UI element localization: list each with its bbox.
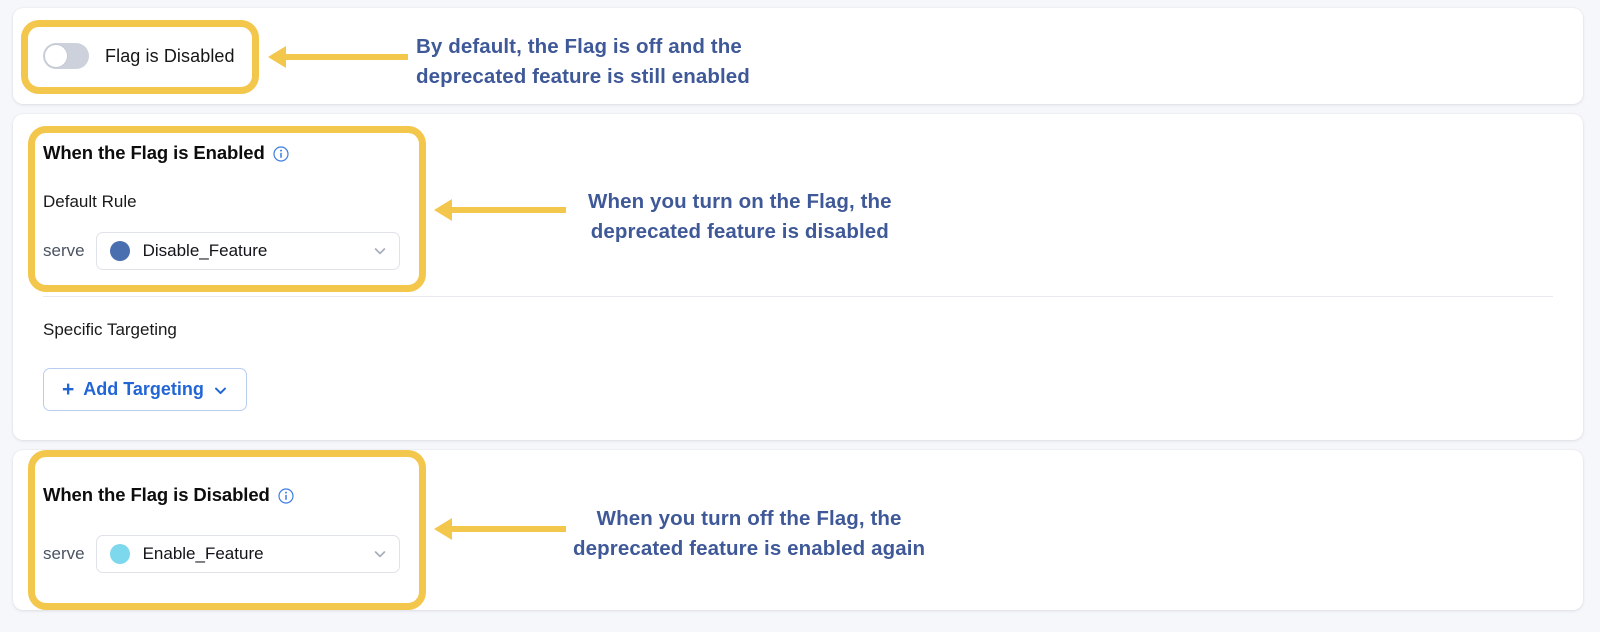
chevron-down-icon[interactable]	[213, 382, 228, 397]
add-targeting-label: Add Targeting	[83, 379, 204, 400]
add-targeting-button[interactable]: + Add Targeting	[43, 368, 247, 411]
arrow-head-icon	[434, 199, 452, 221]
plus-icon: +	[62, 379, 74, 400]
annotation-flag-on: When you turn on the Flag, the deprecate…	[588, 187, 892, 246]
section-title-enabled: When the Flag is Enabled	[43, 142, 289, 164]
serve-label-enabled: serve	[43, 241, 85, 261]
info-circle-icon[interactable]	[278, 488, 294, 504]
info-circle-icon[interactable]	[273, 146, 289, 162]
serve-row-enabled: serve Disable_Feature	[43, 232, 400, 270]
toggle-switch-icon[interactable]	[43, 43, 89, 69]
serve-label-disabled: serve	[43, 544, 85, 564]
specific-targeting-label: Specific Targeting	[43, 320, 177, 340]
serve-variant-value-disabled: Enable_Feature	[143, 544, 373, 564]
serve-row-disabled: serve Enable_Feature	[43, 535, 400, 573]
section-title-disabled: When the Flag is Disabled	[43, 484, 294, 506]
chevron-down-icon[interactable]	[373, 547, 387, 561]
flag-toggle-card	[13, 8, 1583, 104]
serve-variant-select-disabled[interactable]: Enable_Feature	[96, 535, 400, 573]
section-divider	[43, 296, 1553, 297]
arrow-head-icon	[434, 518, 452, 540]
left-arrow-annotation	[434, 199, 566, 221]
section-title-enabled-label: When the Flag is Enabled	[43, 142, 265, 164]
section-title-disabled-label: When the Flag is Disabled	[43, 484, 270, 506]
arrow-shaft	[452, 207, 566, 213]
arrow-shaft	[286, 54, 408, 60]
variant-color-swatch	[110, 241, 130, 261]
default-rule-label: Default Rule	[43, 192, 137, 212]
chevron-down-icon[interactable]	[373, 244, 387, 258]
serve-variant-value-enabled: Disable_Feature	[143, 241, 373, 261]
annotation-flag-off: When you turn off the Flag, the deprecat…	[573, 504, 925, 563]
arrow-shaft	[452, 526, 566, 532]
arrow-head-icon	[268, 46, 286, 68]
serve-variant-select-enabled[interactable]: Disable_Feature	[96, 232, 400, 270]
flag-configuration-page: Flag is Disabled When the Flag is Enable…	[0, 0, 1600, 632]
toggle-knob	[44, 44, 68, 68]
annotation-default-off: By default, the Flag is off and the depr…	[416, 32, 750, 91]
flag-toggle-row[interactable]: Flag is Disabled	[43, 43, 235, 69]
left-arrow-annotation	[434, 518, 566, 540]
flag-toggle-label: Flag is Disabled	[105, 46, 235, 67]
variant-color-swatch	[110, 544, 130, 564]
left-arrow-annotation	[268, 46, 408, 68]
